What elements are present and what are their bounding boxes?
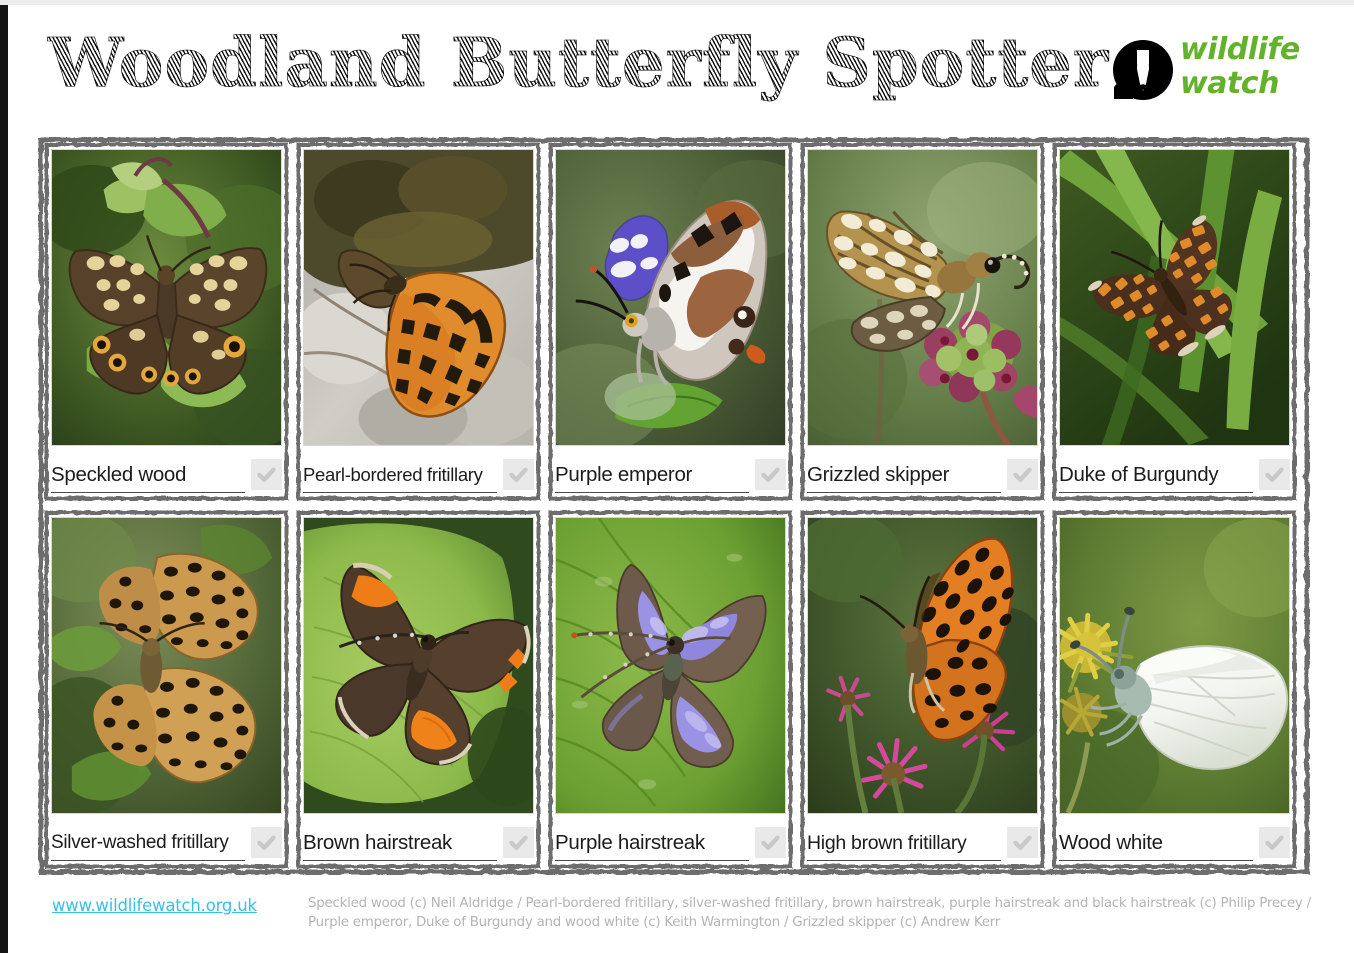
left-edge-strip xyxy=(0,5,8,953)
card-label-row[interactable]: Pearl-bordered fritillary xyxy=(303,446,534,501)
website-link[interactable]: www.wildlifewatch.org.uk xyxy=(52,896,257,915)
label-underline: Speckled wood xyxy=(51,459,245,493)
spotter-card-brown-hairstreak[interactable]: Brown hairstreak xyxy=(296,510,541,869)
label-underline: Purple emperor xyxy=(555,459,749,493)
spotter-card-speckled-wood[interactable]: Speckled wood xyxy=(44,142,289,501)
checkbox-pearl-bordered-fritillary[interactable] xyxy=(503,459,534,490)
spotter-card-pearl-bordered-fritillary[interactable]: Pearl-bordered fritillary xyxy=(296,142,541,501)
check-icon xyxy=(1012,832,1033,853)
checkbox-grizzled-skipper[interactable] xyxy=(1007,459,1038,490)
poster-header: Woodland Butterfly Spotter Woodland Butt… xyxy=(0,5,1354,133)
photo-brown-hairstreak xyxy=(303,517,534,814)
wildlife-watch-logo: wildlife watch xyxy=(1112,33,1312,111)
spotter-grid: Speckled wood xyxy=(38,137,1310,875)
species-label: Silver-washed fritillary xyxy=(51,832,229,854)
card-label-row[interactable]: Brown hairstreak xyxy=(303,814,534,869)
photo-purple-emperor xyxy=(555,149,786,446)
species-label: Purple emperor xyxy=(555,463,692,487)
label-underline: Silver-washed fritillary xyxy=(51,827,245,861)
photo-grizzled-skipper xyxy=(807,149,1038,446)
spotter-card-wood-white[interactable]: Wood white xyxy=(1052,510,1297,869)
photo-silver-washed-fritillary xyxy=(51,517,282,814)
species-label: Purple hairstreak xyxy=(555,831,705,855)
checkbox-purple-emperor[interactable] xyxy=(755,459,786,490)
logo-line-watch: watch xyxy=(1180,67,1300,101)
card-label-row[interactable]: Grizzled skipper xyxy=(807,446,1038,501)
card-label-row[interactable]: Purple hairstreak xyxy=(555,814,786,869)
spotter-card-grizzled-skipper[interactable]: Grizzled skipper xyxy=(800,142,1045,501)
logo-line-wildlife: wildlife xyxy=(1180,33,1300,67)
photo-duke-of-burgundy xyxy=(1059,149,1290,446)
species-label: High brown fritillary xyxy=(807,832,967,855)
check-icon xyxy=(1264,464,1285,485)
label-underline: Brown hairstreak xyxy=(303,827,497,861)
spotter-row: Silver-washed fritillary xyxy=(44,510,1304,869)
spotter-card-purple-hairstreak[interactable]: Purple hairstreak xyxy=(548,510,793,869)
species-label: Pearl-bordered fritillary xyxy=(303,464,483,486)
label-underline: Pearl-bordered fritillary xyxy=(303,459,497,493)
card-label-row[interactable]: Purple emperor xyxy=(555,446,786,501)
checkbox-silver-washed-fritillary[interactable] xyxy=(251,827,282,858)
card-label-row[interactable]: Silver-washed fritillary xyxy=(51,814,282,869)
badger-head-icon xyxy=(1112,39,1174,101)
poster-footer: www.wildlifewatch.org.uk Speckled wood (… xyxy=(38,892,1328,950)
checkbox-wood-white[interactable] xyxy=(1259,827,1290,858)
label-underline: Grizzled skipper xyxy=(807,459,1001,493)
checkbox-high-brown-fritillary[interactable] xyxy=(1007,827,1038,858)
check-icon xyxy=(256,464,277,485)
checkbox-speckled-wood[interactable] xyxy=(251,459,282,490)
checkbox-purple-hairstreak[interactable] xyxy=(755,827,786,858)
label-underline: Purple hairstreak xyxy=(555,827,749,861)
species-label: Brown hairstreak xyxy=(303,831,452,855)
check-icon xyxy=(1264,832,1285,853)
check-icon xyxy=(256,832,277,853)
label-underline: Wood white xyxy=(1059,827,1253,861)
check-icon xyxy=(760,832,781,853)
check-icon xyxy=(508,832,529,853)
spotter-card-duke-of-burgundy[interactable]: Duke of Burgundy xyxy=(1052,142,1297,501)
photo-speckled-wood xyxy=(51,149,282,446)
poster-page: Woodland Butterfly Spotter Woodland Butt… xyxy=(0,0,1354,953)
page-title: Woodland Butterfly Spotter xyxy=(48,23,1109,102)
spotter-row: Speckled wood xyxy=(44,142,1304,501)
card-label-row[interactable]: Wood white xyxy=(1059,814,1290,869)
species-label: Speckled wood xyxy=(51,463,186,487)
species-label: Duke of Burgundy xyxy=(1059,463,1218,487)
spotter-card-high-brown-fritillary[interactable]: High brown fritillary xyxy=(800,510,1045,869)
card-label-row[interactable]: Duke of Burgundy xyxy=(1059,446,1290,501)
logo-wordmark: wildlife watch xyxy=(1180,33,1300,101)
checkbox-duke-of-burgundy[interactable] xyxy=(1259,459,1290,490)
species-label: Wood white xyxy=(1059,831,1163,855)
card-label-row[interactable]: High brown fritillary xyxy=(807,814,1038,869)
checkbox-brown-hairstreak[interactable] xyxy=(503,827,534,858)
photo-wood-white xyxy=(1059,517,1290,814)
check-icon xyxy=(760,464,781,485)
photo-credits: Speckled wood (c) Neil Aldridge / Pearl-… xyxy=(308,894,1318,932)
check-icon xyxy=(508,464,529,485)
spotter-card-purple-emperor[interactable]: Purple emperor xyxy=(548,142,793,501)
check-icon xyxy=(1012,464,1033,485)
card-label-row[interactable]: Speckled wood xyxy=(51,446,282,501)
label-underline: Duke of Burgundy xyxy=(1059,459,1253,493)
spotter-card-silver-washed-fritillary[interactable]: Silver-washed fritillary xyxy=(44,510,289,869)
photo-high-brown-fritillary xyxy=(807,517,1038,814)
label-underline: High brown fritillary xyxy=(807,827,1001,861)
photo-purple-hairstreak xyxy=(555,517,786,814)
photo-pearl-bordered-fritillary xyxy=(303,149,534,446)
species-label: Grizzled skipper xyxy=(807,463,949,487)
